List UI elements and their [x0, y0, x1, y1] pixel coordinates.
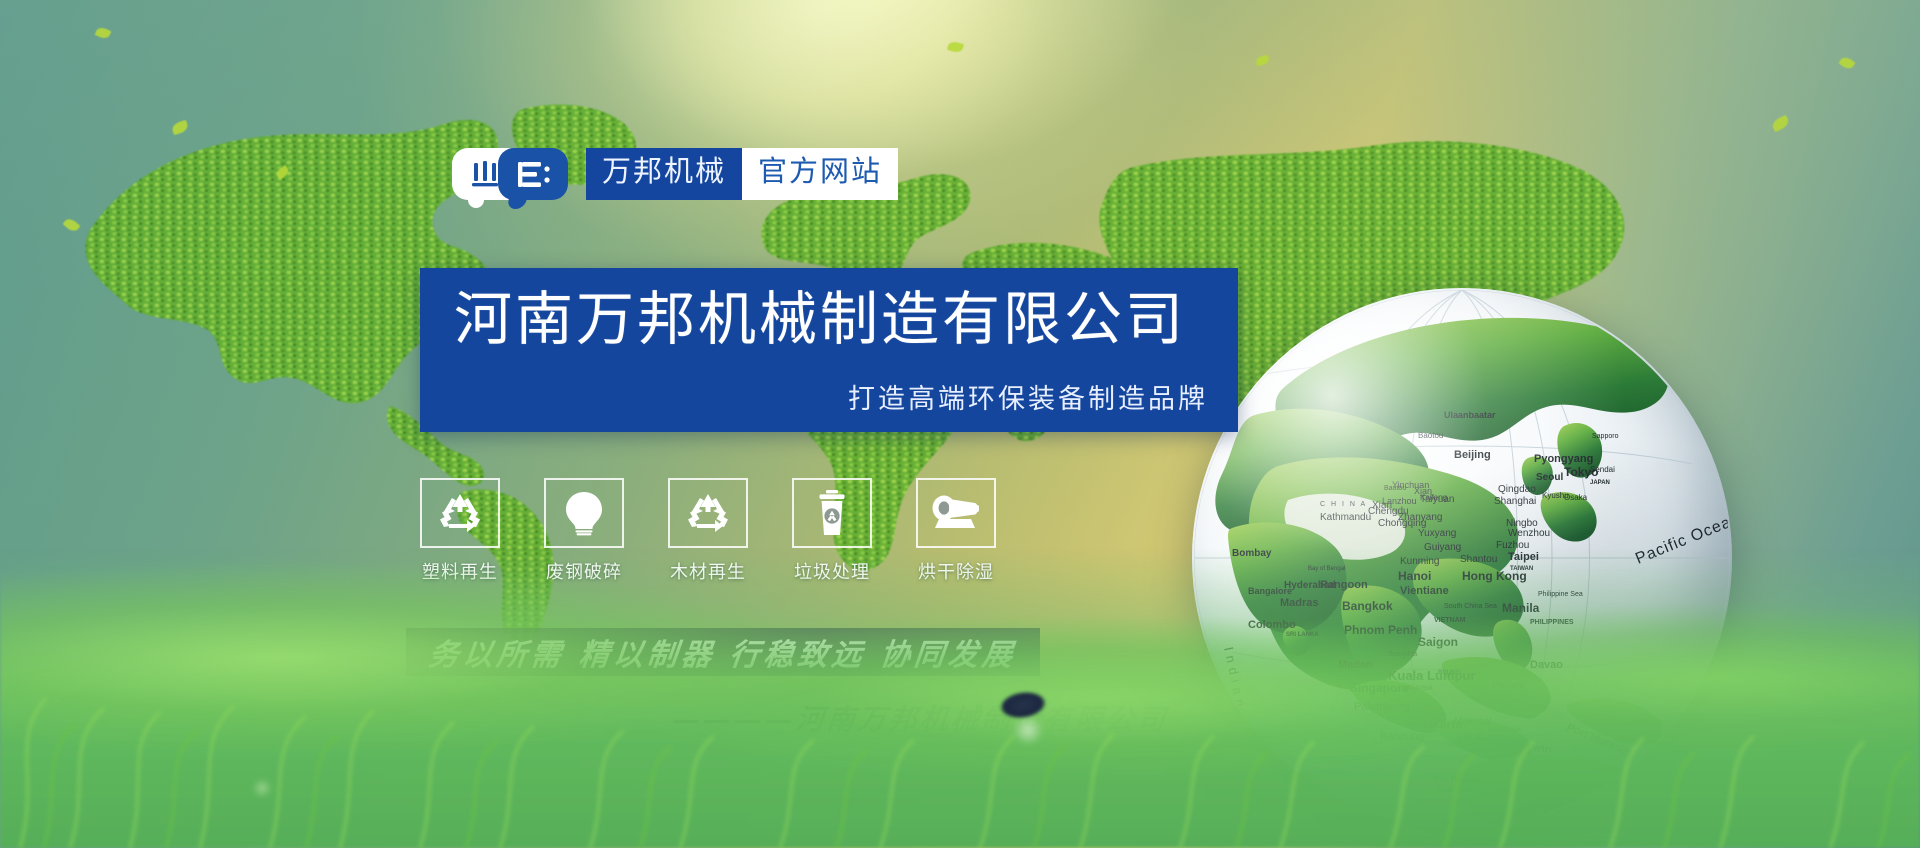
svg-text:Sapporo: Sapporo — [1592, 433, 1619, 440]
svg-text:Xian: Xian — [1414, 486, 1432, 496]
wb-logo-icon[interactable] — [452, 148, 568, 200]
hero-banner-stage: Ulaanbaatar Beijing Pyongyang Seoul Toky… — [0, 0, 1920, 848]
company-title-banner: 河南万邦机械制造有限公司 打造高端环保装备制造品牌 — [420, 268, 1238, 432]
svg-text:Kathmandu: Kathmandu — [1320, 512, 1371, 523]
blower-dryer-icon — [916, 478, 996, 548]
grass-bokeh-highlights — [0, 638, 1920, 848]
svg-text:JAPAN: JAPAN — [1590, 480, 1610, 486]
company-slogan: 打造高端环保装备制造品牌 — [848, 377, 1208, 416]
site-logo-bar[interactable]: 万邦机械 官方网站 — [452, 148, 898, 200]
svg-text:Beijing: Beijing — [1454, 449, 1491, 461]
svg-text:Ulaanbaatar: Ulaanbaatar — [1444, 410, 1496, 420]
svg-text:Shanghai: Shanghai — [1494, 496, 1536, 507]
svg-text:Wenzhou: Wenzhou — [1508, 528, 1550, 539]
trash-bin-icon — [792, 478, 872, 548]
brand-name-label[interactable]: 万邦机械 — [586, 148, 742, 200]
recycle-icon — [668, 478, 748, 548]
company-name-heading: 河南万邦机械制造有限公司 — [454, 288, 1186, 352]
svg-text:Pyongyang: Pyongyang — [1534, 453, 1593, 465]
svg-text:Seoul: Seoul — [1536, 472, 1563, 483]
recycle-icon — [420, 478, 500, 548]
svg-text:Qingdao: Qingdao — [1498, 484, 1536, 495]
svg-text:Baotou: Baotou — [1418, 431, 1443, 440]
lightbulb-icon — [544, 478, 624, 548]
official-site-label[interactable]: 官方网站 — [742, 148, 898, 200]
svg-text:Kyushu: Kyushu — [1542, 491, 1569, 500]
svg-text:Sendai: Sendai — [1590, 465, 1615, 474]
svg-text:C H I N A: C H I N A — [1320, 501, 1367, 508]
svg-text:Yuxyang: Yuxyang — [1418, 528, 1456, 539]
svg-text:Baotou: Baotou — [1384, 485, 1406, 492]
